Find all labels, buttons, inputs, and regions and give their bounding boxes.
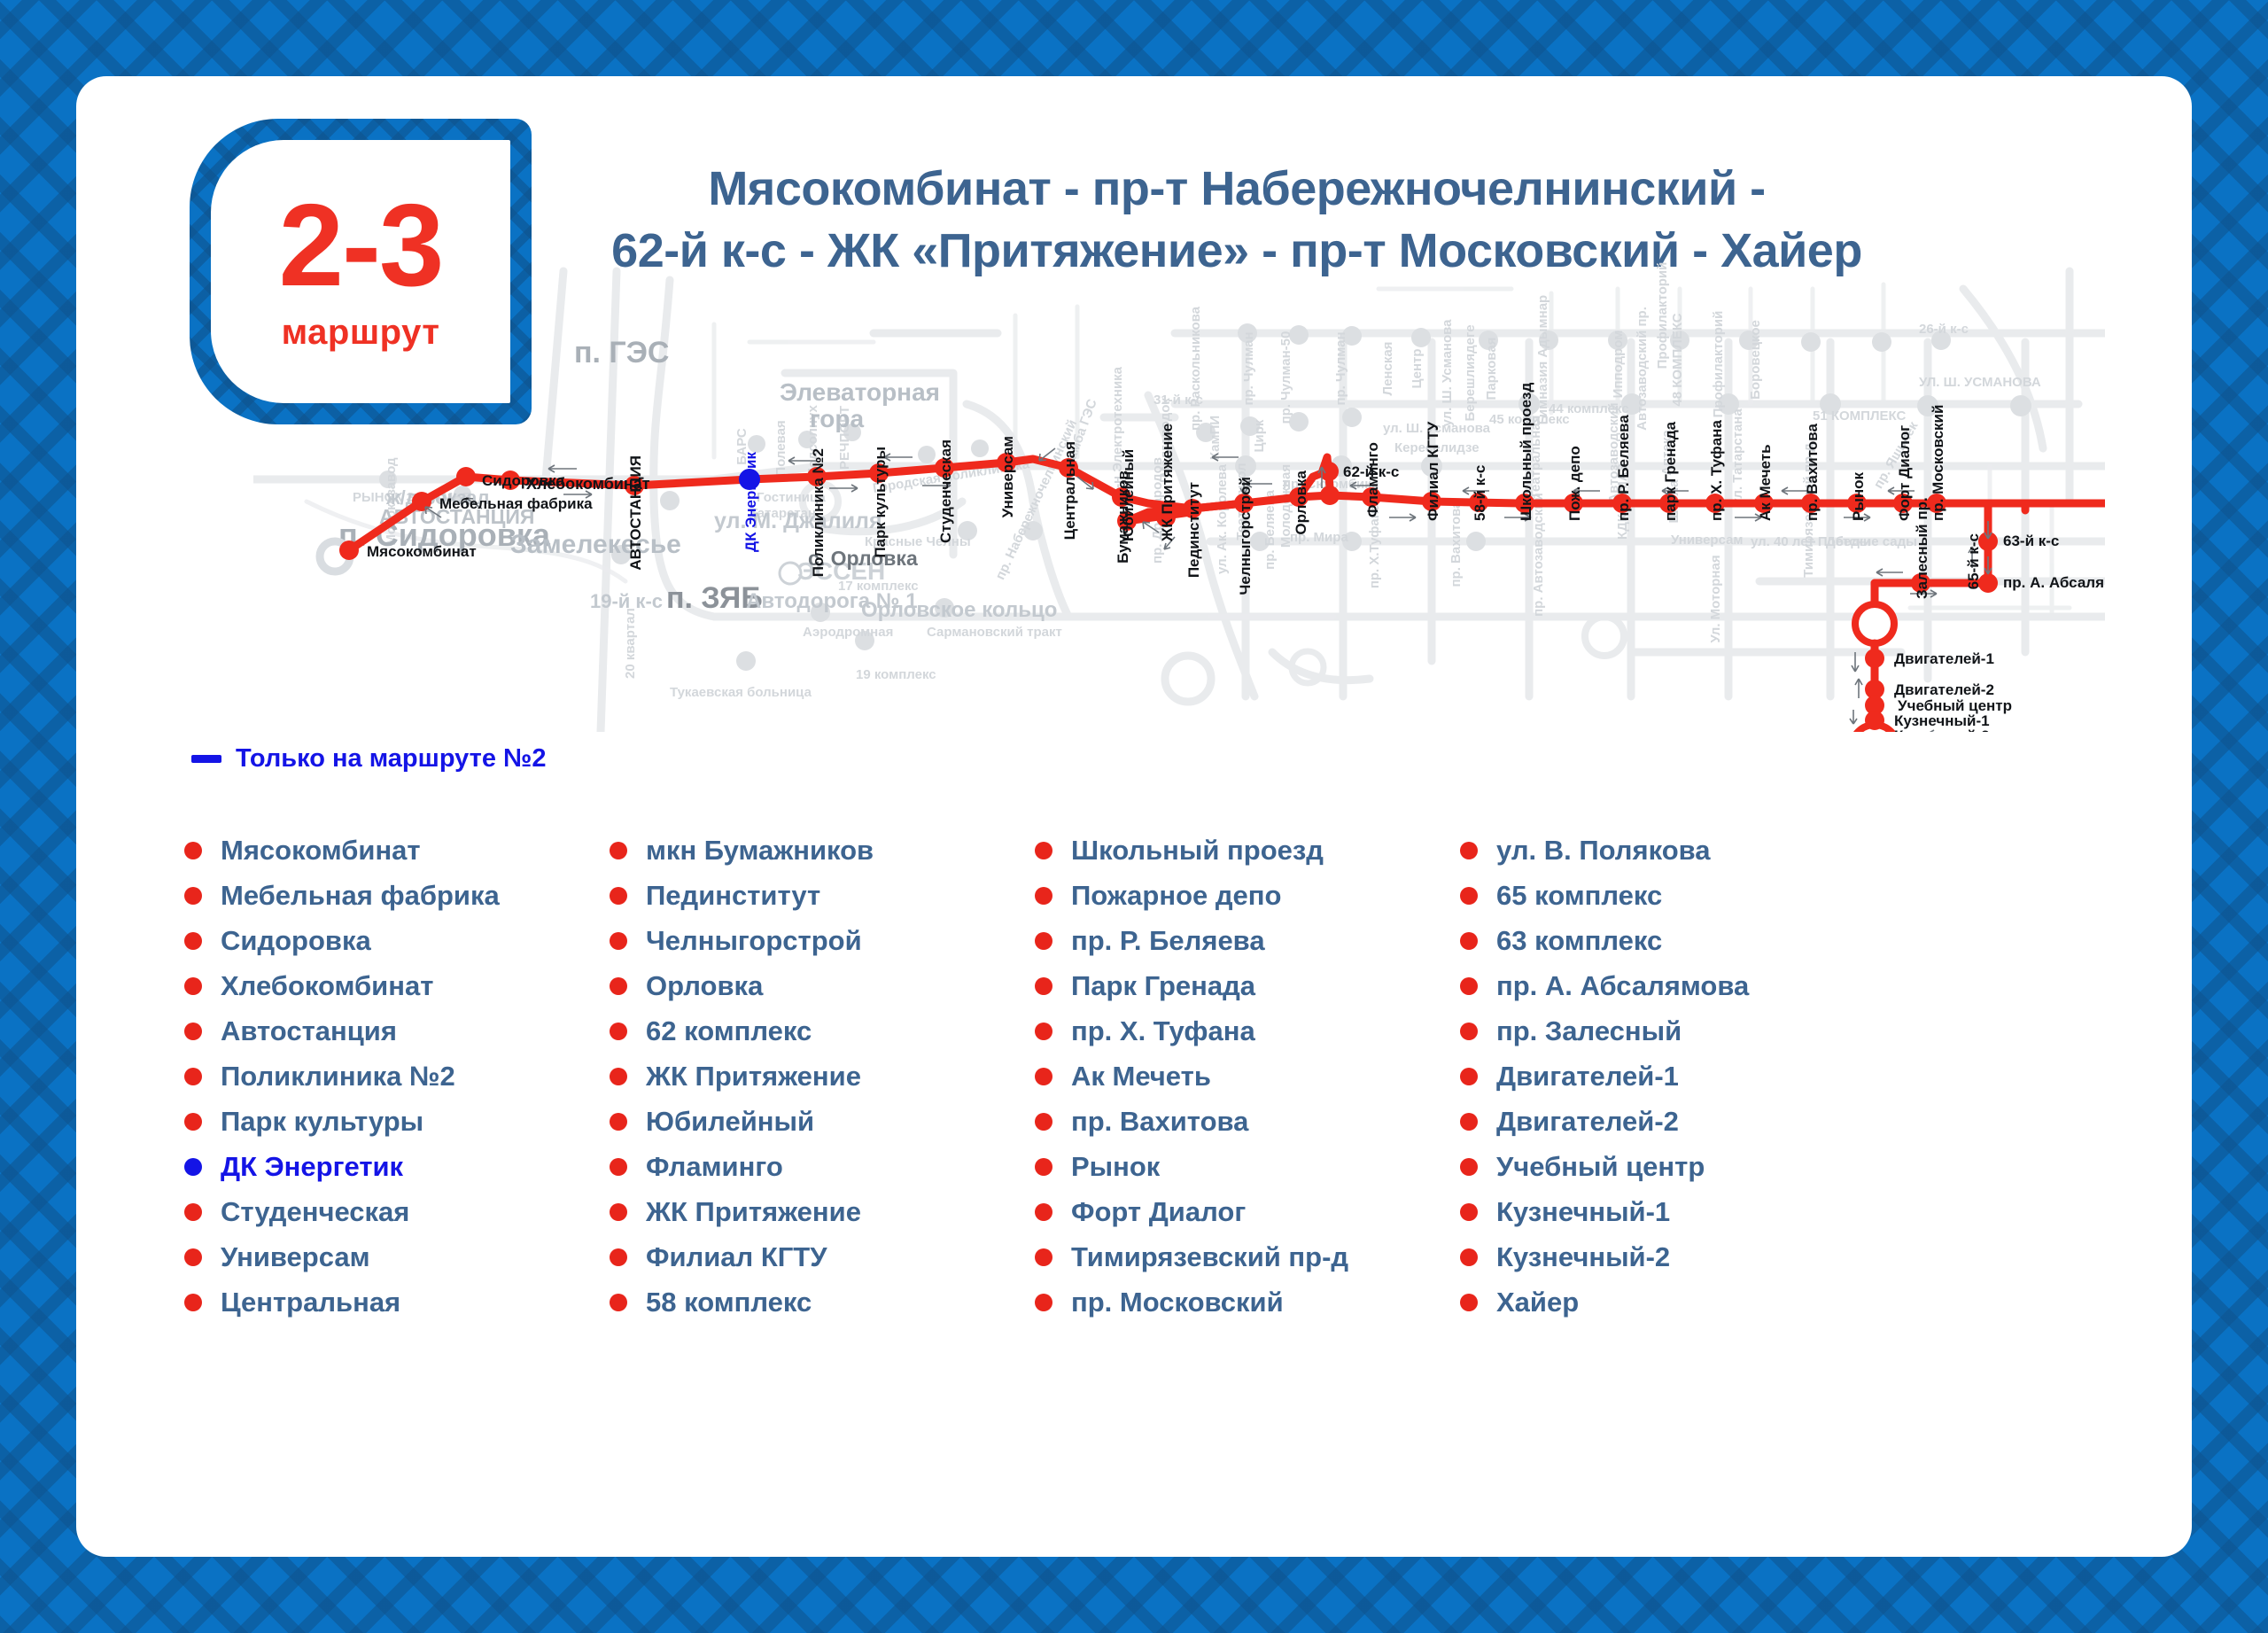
stop-name-label: Мясокомбинат (221, 835, 421, 867)
svg-text:пр. Раскольникова: пр. Раскольникова (1188, 306, 1203, 431)
list-item[interactable]: Ак Мечеть (1035, 1054, 1460, 1099)
stop-dot-icon (610, 1158, 627, 1176)
list-item[interactable]: 63 комплекс (1460, 918, 1885, 963)
list-item[interactable]: Челныгорстрой (610, 918, 1035, 963)
stop-name-label: пр. Залесный (1496, 1015, 1682, 1047)
svg-text:пр. Московский: пр. Московский (1930, 405, 1946, 521)
stop-name-label: Парк культуры (221, 1106, 423, 1138)
svg-text:пр. Р. Беляева: пр. Р. Беляева (1615, 415, 1632, 521)
stop-dot-icon (184, 1158, 202, 1176)
stop-name-label: Кузнечный-1 (1496, 1196, 1670, 1228)
svg-text:Поликлиника №2: Поликлиника №2 (810, 448, 827, 577)
stop-dot-icon (610, 977, 627, 995)
stop-dot-icon (184, 842, 202, 859)
stop-name-label: Школьный проезд (1071, 835, 1324, 867)
stop-name-label: Фламинго (646, 1151, 783, 1183)
stop-name-label: ЖК Притяжение (646, 1061, 861, 1093)
legend-note: Только на маршруте №2 (236, 744, 546, 774)
list-item[interactable]: 62 комплекс (610, 1008, 1035, 1054)
list-item[interactable]: Школьный проезд (1035, 828, 1460, 873)
stop-dot-icon (1460, 887, 1478, 905)
stop-name-label: ЖК Притяжение (646, 1196, 861, 1228)
stop-dot-icon (1035, 842, 1052, 859)
stop-name-label: Центральная (221, 1287, 400, 1318)
stop-dot-icon (1035, 1068, 1052, 1085)
list-item[interactable]: Двигателей-1 (1460, 1054, 1885, 1099)
stop-dot-icon (1035, 977, 1052, 995)
svg-text:Филиал КГТУ: Филиал КГТУ (1425, 421, 1441, 521)
stop-dot-icon (1035, 1023, 1052, 1040)
stop-dot-icon (610, 932, 627, 950)
svg-text:Фламинго: Фламинго (1364, 442, 1381, 517)
list-item[interactable]: пр. Залесный (1460, 1008, 1885, 1054)
svg-text:19 комплекс: 19 комплекс (856, 667, 936, 682)
svg-text:Автозаводский пр.: Автозаводский пр. (1635, 307, 1650, 431)
list-item[interactable]: пр. Х. Туфана (1035, 1008, 1460, 1054)
stop-name-label: 62 комплекс (646, 1015, 812, 1047)
stop-dot-icon (184, 1248, 202, 1266)
stop-dot-icon (610, 1294, 627, 1311)
svg-text:Детские сады: Детские сады (1826, 534, 1917, 549)
svg-text:Пож. депо: Пож. депо (1566, 446, 1583, 521)
svg-text:пр. Чулман-50: пр. Чулман-50 (1278, 331, 1293, 424)
list-item[interactable]: Рынок (1035, 1144, 1460, 1189)
stop-dot-icon (1035, 1158, 1052, 1176)
stop-dot-icon (610, 1023, 627, 1040)
list-item[interactable]: Центральная (184, 1279, 610, 1325)
list-item[interactable]: ул. В. Полякова (1460, 828, 1885, 873)
stop-dot-icon (184, 1294, 202, 1311)
svg-text:Форт Диалог: Форт Диалог (1896, 425, 1913, 521)
list-item[interactable]: Студенческая (184, 1189, 610, 1234)
svg-text:63-й к-с: 63-й к-с (2003, 533, 2059, 549)
svg-text:Кузнечный-2: Кузнечный-2 (1894, 727, 1990, 732)
stop-name-label: Универсам (221, 1241, 370, 1273)
stop-name-label: Кузнечный-2 (1496, 1241, 1670, 1273)
stop-dot-icon (184, 932, 202, 950)
stop-name-label: Поликлиника №2 (221, 1061, 455, 1093)
stop-dot-icon (610, 842, 627, 859)
legend-dash-icon (191, 755, 221, 763)
svg-text:19-й к-с: 19-й к-с (590, 590, 663, 612)
stop-name-label: Пожарное депо (1071, 880, 1281, 912)
list-item[interactable]: ЖК Притяжение (610, 1189, 1035, 1234)
stop-dot-icon (1035, 887, 1052, 905)
svg-text:ул. М. Джалиля: ул. М. Джалиля (714, 509, 882, 533)
svg-text:Орловка: Орловка (1293, 470, 1309, 534)
svg-text:Парк культуры: Парк культуры (872, 447, 889, 558)
list-item[interactable]: пр. Московский (1035, 1279, 1460, 1325)
svg-text:Универсам: Универсам (999, 436, 1016, 517)
svg-text:Боровецкое: Боровецкое (1748, 320, 1763, 400)
svg-text:ул. Татарстана: ул. Татарстана (1730, 408, 1745, 506)
stop-name-label: Хайер (1496, 1287, 1579, 1318)
svg-text:Мебельная фабрика: Мебельная фабрика (439, 495, 593, 512)
svg-text:Берешлиядеге: Берешлиядеге (1463, 324, 1478, 421)
list-item[interactable]: Пожарное депо (1035, 873, 1460, 918)
list-item[interactable]: Кузнечный-1 (1460, 1189, 1885, 1234)
stop-name-label: Тимирязевский пр-д (1071, 1241, 1348, 1273)
list-item[interactable]: Учебный центр (1460, 1144, 1885, 1189)
list-item[interactable]: 58 комплекс (610, 1279, 1035, 1325)
stop-name-label: Студенческая (221, 1196, 409, 1228)
stop-name-label: Двигателей-1 (1496, 1061, 1679, 1093)
svg-text:Пединститут: Пединститут (1185, 482, 1202, 578)
list-item[interactable]: ДК Энергетик (184, 1144, 610, 1189)
stop-name-label: пр. Р. Беляева (1071, 925, 1265, 957)
list-item[interactable]: Двигателей-2 (1460, 1099, 1885, 1144)
stop-dot-icon (184, 977, 202, 995)
stop-name-label: Ак Мечеть (1071, 1061, 1211, 1093)
stop-name-label: пр. Х. Туфана (1071, 1015, 1255, 1047)
list-item[interactable]: мкн Бумажников (610, 828, 1035, 873)
svg-text:Тукаевская больница: Тукаевская больница (670, 685, 812, 700)
stop-name-label: мкн Бумажников (646, 835, 874, 867)
list-item[interactable]: ЖК Притяжение (610, 1054, 1035, 1099)
stop-dot-icon (1460, 1294, 1478, 1311)
list-item[interactable]: 65 комплекс (1460, 873, 1885, 918)
list-item[interactable]: Мебельная фабрика (184, 873, 610, 918)
stop-name-label: Юбилейный (646, 1106, 814, 1138)
svg-text:Залесный пр.: Залесный пр. (1914, 497, 1930, 599)
svg-text:Универсам: Универсам (1671, 533, 1744, 548)
list-item[interactable]: Форт Диалог (1035, 1189, 1460, 1234)
svg-text:гора: гора (810, 405, 865, 432)
svg-text:51 КОМПЛЕКС: 51 КОМПЛЕКС (1813, 408, 1906, 424)
list-item[interactable]: Поликлиника №2 (184, 1054, 610, 1099)
svg-text:парк Гренада: парк Гренада (1662, 421, 1679, 521)
stops-list: МясокомбинатМебельная фабрикаСидоровкаХл… (184, 828, 2139, 1325)
svg-text:пр. А. Абсалямова: пр. А. Абсалямова (2003, 574, 2105, 591)
svg-text:Мясокомбинат: Мясокомбинат (367, 543, 477, 560)
stop-name-label: Орловка (646, 970, 763, 1002)
stop-name-label: Филиал КГТУ (646, 1241, 827, 1273)
svg-text:Двигателей-2: Двигателей-2 (1894, 681, 1994, 698)
stop-dot-icon (1460, 1113, 1478, 1131)
stop-name-label: Хлебокомбинат (221, 970, 433, 1002)
stop-dot-icon (610, 1068, 627, 1085)
list-item[interactable]: Филиал КГТУ (610, 1234, 1035, 1279)
list-item[interactable]: пр. А. Абсалямова (1460, 963, 1885, 1008)
stop-name-label: Двигателей-2 (1496, 1106, 1679, 1138)
svg-text:Студенческая: Студенческая (937, 439, 954, 543)
stop-dot-icon (1035, 1113, 1052, 1131)
list-item[interactable]: Фламинго (610, 1144, 1035, 1189)
stop-name-label: пр. Вахитова (1071, 1106, 1248, 1138)
svg-text:Ак Мечеть: Ак Мечеть (1757, 444, 1774, 521)
route-title-line-1: Мясокомбинат - пр-т Набережночелнинский … (572, 158, 1901, 220)
stops-column-4: ул. В. Полякова65 комплекс63 комплекспр.… (1460, 828, 1885, 1325)
list-item[interactable]: Кузнечный-2 (1460, 1234, 1885, 1279)
svg-text:Рынок: Рынок (1850, 471, 1867, 521)
list-item[interactable]: Сидоровка (184, 918, 610, 963)
stop-name-label: Парк Гренада (1071, 970, 1255, 1002)
stop-name-label: ДК Энергетик (221, 1151, 403, 1183)
stop-dot-icon (1035, 1294, 1052, 1311)
svg-text:пр. Чулман: пр. Чулман (1241, 331, 1256, 405)
svg-text:пр. Чулман: пр. Чулман (1333, 331, 1348, 405)
list-item[interactable]: пр. Р. Беляева (1035, 918, 1460, 963)
svg-text:65-й к-с: 65-й к-с (1965, 533, 1982, 589)
svg-text:Ул. Моторная: Ул. Моторная (1708, 555, 1723, 642)
list-item[interactable]: Юбилейный (610, 1099, 1035, 1144)
route-map: Молокозавод РЫНОК ЗАКАМЬЕ пр. Раскольник… (253, 236, 2105, 732)
list-item[interactable]: Автостанция (184, 1008, 610, 1054)
svg-text:УЛ. Ш. УСМАНОВА: УЛ. Ш. УСМАНОВА (1919, 375, 2041, 390)
stop-name-label: пр. А. Абсалямова (1496, 970, 1749, 1002)
stop-name-label: Рынок (1071, 1151, 1160, 1183)
route-map-svg: Молокозавод РЫНОК ЗАКАМЬЕ пр. Раскольник… (253, 236, 2105, 732)
svg-text:Двигателей-1: Двигателей-1 (1894, 650, 1994, 667)
stops-column-3: Школьный проездПожарное депопр. Р. Беляе… (1035, 828, 1460, 1325)
svg-text:Замелекесье: Замелекесье (510, 530, 681, 559)
svg-text:КамПИ: КамПИ (1208, 416, 1223, 460)
svg-text:пр. Х. Туфана: пр. Х. Туфана (1708, 420, 1725, 521)
svg-text:Профилакторий: Профилакторий (1711, 311, 1726, 418)
stop-dot-icon (184, 1023, 202, 1040)
stop-name-label: Учебный центр (1496, 1151, 1705, 1183)
list-item[interactable]: пр. Вахитова (1035, 1099, 1460, 1144)
stop-name-label: 65 комплекс (1496, 880, 1662, 912)
stop-name-label: пр. Московский (1071, 1287, 1284, 1318)
svg-text:ЖК Притяжение: ЖК Притяжение (1159, 424, 1176, 542)
stop-dot-icon (1460, 1248, 1478, 1266)
stop-dot-icon (610, 887, 627, 905)
map-label-dk-energetik: ДК Энергетик (742, 452, 759, 552)
svg-text:пр. Вахитова: пр. Вахитова (1449, 501, 1464, 587)
svg-text:Профилакторий: Профилакторий (1655, 262, 1670, 369)
list-item[interactable]: Орловка (610, 963, 1035, 1008)
svg-text:Челныгорстрой: Челныгорстрой (1237, 477, 1254, 595)
svg-text:58-й к-с: 58-й к-с (1472, 465, 1488, 521)
svg-text:Элеваторная: Элеваторная (780, 378, 940, 406)
list-item[interactable]: Парк культуры (184, 1099, 610, 1144)
poster-card: 2-3 маршрут Мясокомбинат - пр-т Набережн… (76, 76, 2192, 1557)
svg-text:20 квартал: 20 квартал (623, 608, 638, 679)
stop-dot-icon (1460, 977, 1478, 995)
svg-text:Центр: Центр (1410, 348, 1425, 388)
svg-text:п. ГЭС: п. ГЭС (574, 336, 669, 369)
stop-name-label: Сидоровка (221, 925, 371, 957)
stop-dot-icon (184, 1203, 202, 1221)
list-item[interactable]: Универсам (184, 1234, 610, 1279)
stop-dot-icon (1460, 1023, 1478, 1040)
svg-text:ул. Ш. Усманова: ул. Ш. Усманова (1440, 319, 1455, 427)
stop-name-label: Пединститут (646, 880, 820, 912)
stops-column-2: мкн БумажниковПединститутЧелныгорстройОр… (610, 828, 1035, 1325)
svg-text:ул. Ак. Королева: ул. Ак. Королева (1215, 463, 1230, 574)
stop-dot-icon (610, 1113, 627, 1131)
stop-name-label: Мебельная фабрика (221, 880, 500, 912)
stop-dot-icon (1035, 1203, 1052, 1221)
list-item[interactable]: Хлебокомбинат (184, 963, 610, 1008)
stop-dot-icon (610, 1248, 627, 1266)
svg-text:Сармановский тракт: Сармановский тракт (927, 625, 1062, 640)
list-item[interactable]: Хайер (1460, 1279, 1885, 1325)
stop-dot-icon (610, 1203, 627, 1221)
stop-name-label: ул. В. Полякова (1496, 835, 1711, 867)
stop-dot-icon (184, 1068, 202, 1085)
svg-text:Орловское кольцо: Орловское кольцо (861, 598, 1057, 622)
list-item[interactable]: Мясокомбинат (184, 828, 610, 873)
svg-text:Ипподром: Ипподром (1611, 330, 1626, 399)
stop-dot-icon (1035, 932, 1052, 950)
list-item[interactable]: Тимирязевский пр-д (1035, 1234, 1460, 1279)
map-legend: Только на маршруте №2 (191, 744, 546, 774)
svg-text:Полевая: Полевая (773, 420, 788, 476)
stop-dot-icon (1035, 1248, 1052, 1266)
svg-text:Центральная: Центральная (1061, 441, 1078, 540)
stop-dot-icon (1460, 1158, 1478, 1176)
stop-dot-icon (1460, 1203, 1478, 1221)
stop-name-label: Форт Диалог (1071, 1196, 1246, 1228)
stop-dot-icon (1460, 842, 1478, 859)
stop-dot-icon (1460, 932, 1478, 950)
stop-name-label: Челныгорстрой (646, 925, 862, 957)
svg-text:Аэродромная: Аэродромная (803, 625, 893, 640)
stop-dot-icon (1460, 1068, 1478, 1085)
svg-text:АВТОСТАНЦИЯ: АВТОСТАНЦИЯ (627, 455, 644, 571)
stop-dot-icon (184, 887, 202, 905)
stop-name-label: Автостанция (221, 1015, 397, 1047)
svg-text:Парковая: Парковая (1484, 338, 1499, 400)
list-item[interactable]: Парк Гренада (1035, 963, 1460, 1008)
stop-name-label: 63 комплекс (1496, 925, 1662, 957)
svg-text:Юбилейный: Юбилейный (1120, 449, 1137, 541)
stops-column-1: МясокомбинатМебельная фабрикаСидоровкаХл… (184, 828, 610, 1325)
stop-dot-icon (184, 1113, 202, 1131)
svg-text:26-й к-с: 26-й к-с (1919, 322, 1969, 337)
svg-text:пр. Вахитова: пр. Вахитова (1804, 424, 1821, 521)
stop-name-label: 58 комплекс (646, 1287, 812, 1318)
svg-text:Ленская: Ленская (1380, 342, 1395, 396)
svg-text:48 КОМПЛЕКС: 48 КОМПЛЕКС (1670, 313, 1685, 406)
svg-text:Школьный проезд: Школьный проезд (1518, 383, 1534, 521)
svg-text:Цирк: Цирк (1252, 419, 1267, 452)
list-item[interactable]: Пединститут (610, 873, 1035, 918)
